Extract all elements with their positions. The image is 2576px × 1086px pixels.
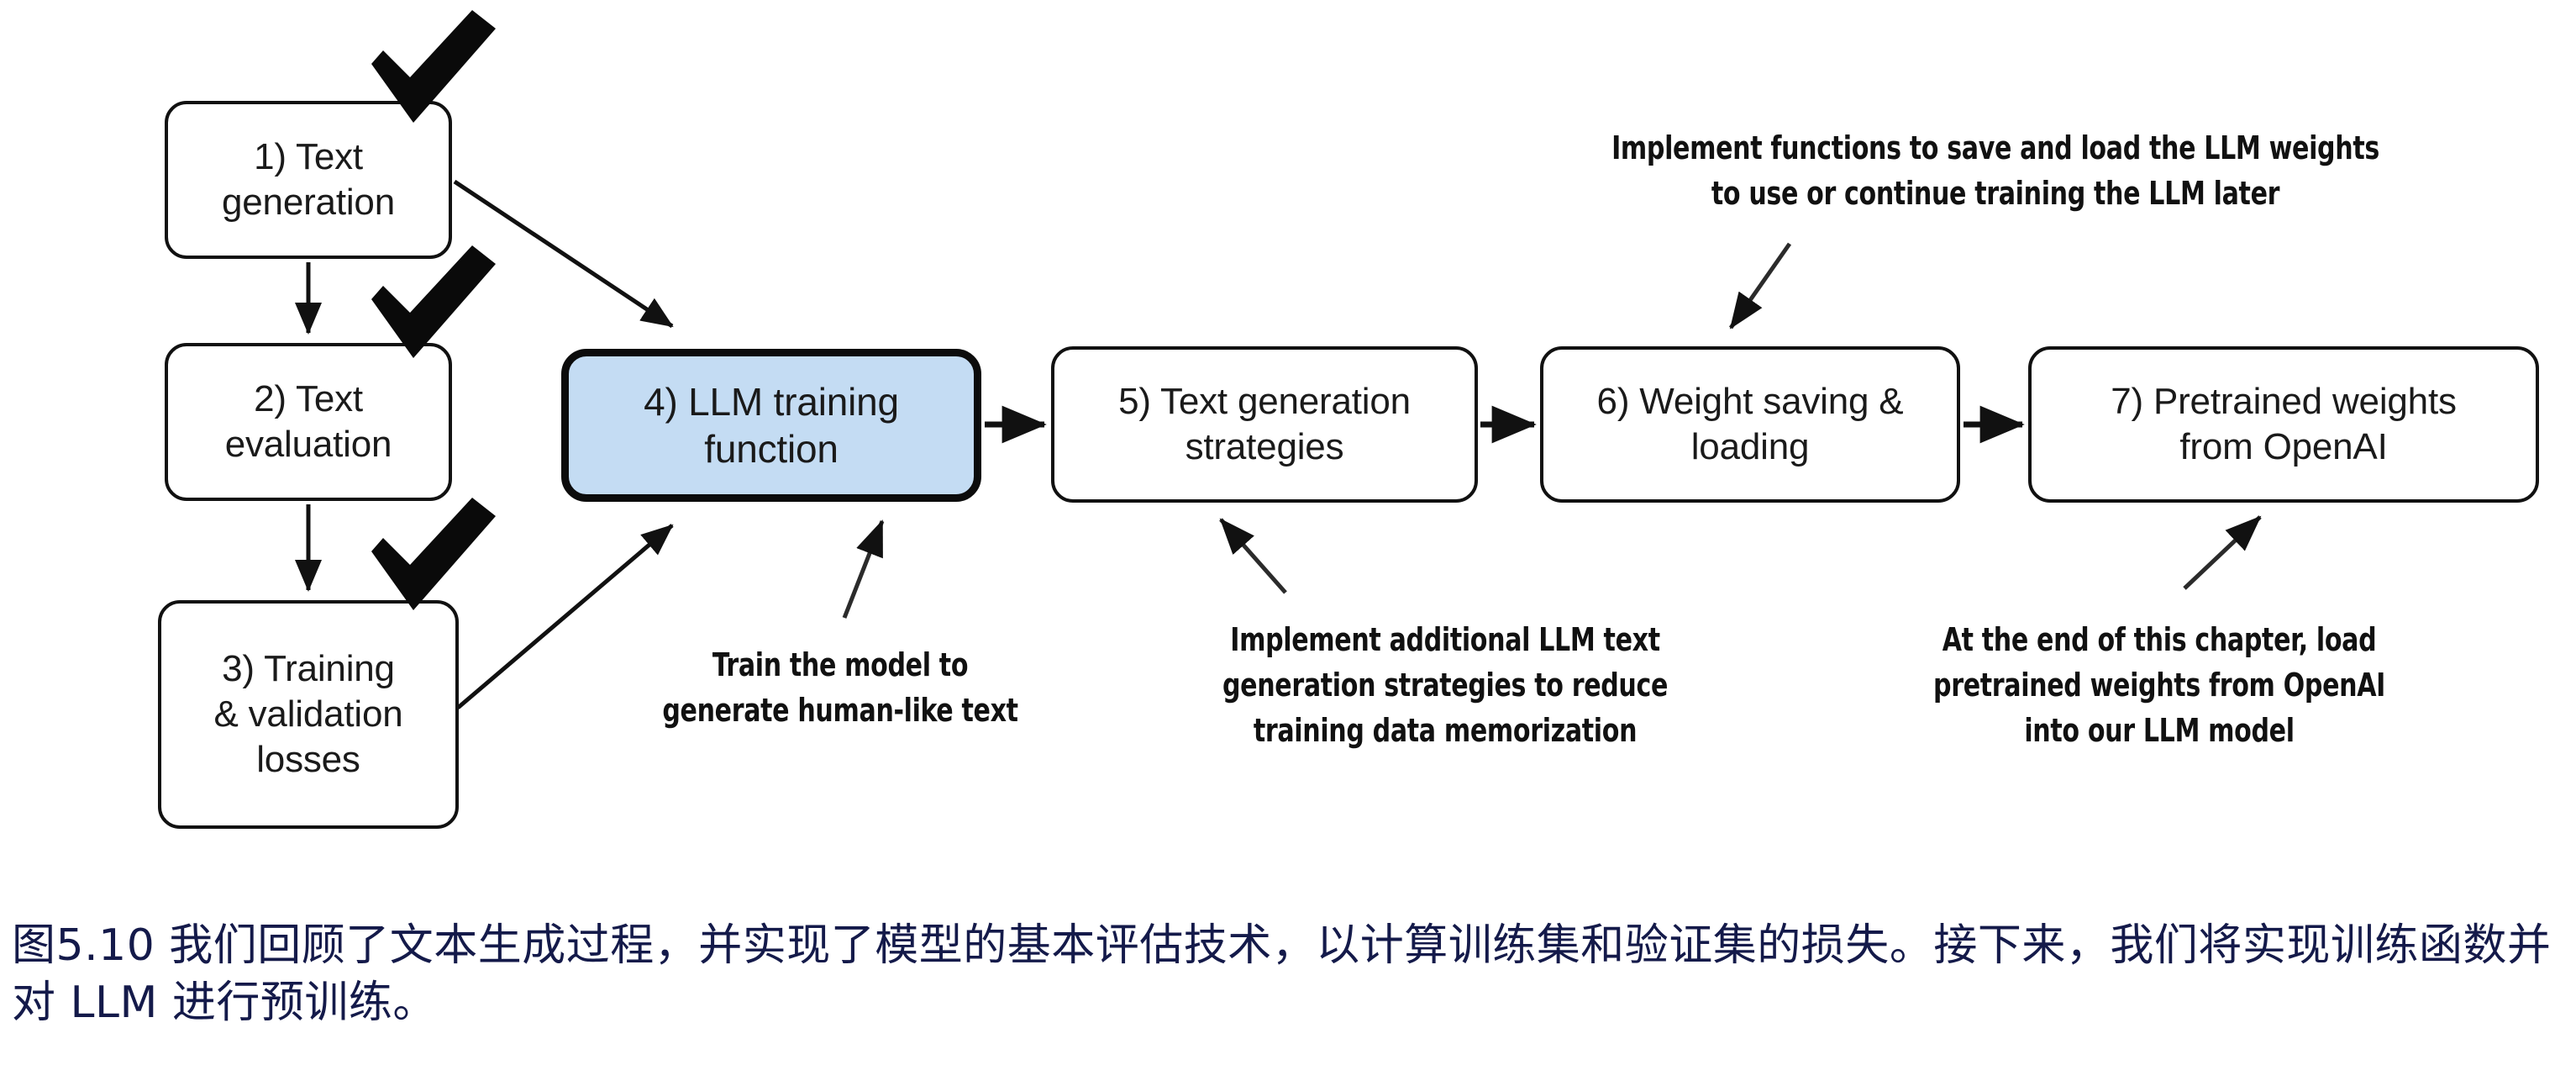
pointer-train-model <box>844 521 882 618</box>
figure-root: 1) Text generation 2) Text evaluation 3)… <box>0 0 2576 1086</box>
step-box-1-text-generation[interactable]: 1) Text generation <box>165 101 452 259</box>
step-box-2-text-evaluation[interactable]: 2) Text evaluation <box>165 343 452 501</box>
step-box-6-weight-saving-loading[interactable]: 6) Weight saving & loading <box>1540 346 1960 503</box>
pointer-generation-strategies <box>1221 519 1285 593</box>
step-box-6-label: 6) Weight saving & loading <box>1597 379 1904 469</box>
pointer-pretrained-openai <box>2184 517 2260 588</box>
annotation-train-model: Train the model to generate human-like t… <box>618 643 1062 734</box>
annotation-weight-saving: Implement functions to save and load the… <box>1526 126 2465 217</box>
figure-caption: 图5.10 我们回顾了文本生成过程，并实现了模型的基本评估技术，以计算训练集和验… <box>12 918 2566 1031</box>
annotation-generation-strategies: Implement additional LLM text generation… <box>1157 618 1733 754</box>
step-box-4-llm-training-function[interactable]: 4) LLM training function <box>561 349 981 502</box>
step-box-2-label: 2) Text evaluation <box>225 377 392 467</box>
step-box-5-label: 5) Text generation strategies <box>1118 379 1411 469</box>
step-box-7-pretrained-weights-openai[interactable]: 7) Pretrained weights from OpenAI <box>2028 346 2539 503</box>
step-box-7-label: 7) Pretrained weights from OpenAI <box>2111 379 2457 469</box>
step-box-3-training-validation-losses[interactable]: 3) Training & validation losses <box>158 600 459 829</box>
step-box-1-label: 1) Text generation <box>222 134 395 224</box>
step-box-4-label: 4) LLM training function <box>644 378 899 472</box>
pointer-weight-saving <box>1731 244 1790 328</box>
annotation-pretrained-openai: At the end of this chapter, load pretrai… <box>1871 618 2447 754</box>
step-box-3-label: 3) Training & validation losses <box>213 646 402 782</box>
step-box-5-text-generation-strategies[interactable]: 5) Text generation strategies <box>1051 346 1478 503</box>
edge-1-to-4 <box>455 182 672 326</box>
flow-diagram: 1) Text generation 2) Text evaluation 3)… <box>0 0 2576 891</box>
